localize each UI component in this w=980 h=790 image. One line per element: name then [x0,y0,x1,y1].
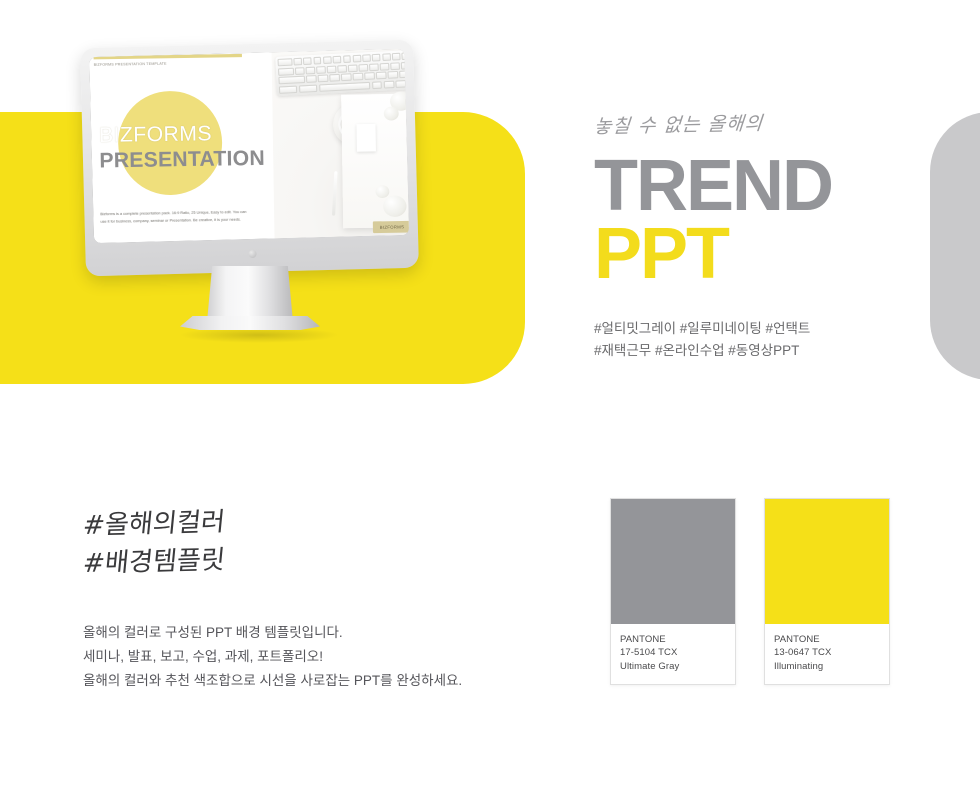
hero-script-line: 놓칠 수 없는 올해의 [593,104,956,139]
monitor-stand-foot [180,316,320,330]
monitor: BIZFORMS BIZFORMS PRESENTATION TEMPLATE … [80,40,419,277]
hashtag-line-1: #얼티밋그레이 #일루미네이팅 #언택트 [594,318,954,340]
pantone-name: Ultimate Gray [620,660,726,673]
monitor-mockup: BIZFORMS BIZFORMS PRESENTATION TEMPLATE … [83,44,428,344]
pantone-swatch [611,499,735,624]
slide-topline: BIZFORMS PRESENTATION TEMPLATE [94,61,167,66]
hero-hashtags: #얼티밋그레이 #일루미네이팅 #언택트 #재택근무 #온라인수업 #동영상PP… [594,318,954,362]
note-card [356,124,376,152]
monitor-bezel: BIZFORMS BIZFORMS PRESENTATION TEMPLATE … [89,49,409,243]
desk-photo-area: BIZFORMS [268,49,409,243]
pantone-name: Illuminating [774,660,880,673]
pantone-swatch [765,499,889,624]
slide-body-text: Bizforms is a complete presentation pack… [100,209,249,226]
hero-title-ppt: PPT [594,219,954,290]
copy-body-text: 올해의 컬러로 구성된 PPT 배경 템플릿입니다. 세미나, 발표, 보고, … [83,621,553,693]
pantone-brand: PANTONE [620,633,726,646]
pantone-info: PANTONE 13-0647 TCX Illuminating [765,624,889,684]
monitor-logo-dot [248,250,256,258]
copy-body-line-2: 세미나, 발표, 보고, 수업, 과제, 포트폴리오! [83,645,553,669]
pantone-code: 13-0647 TCX [774,646,880,659]
pantone-card: PANTONE 17-5104 TCX Ultimate Gray [610,498,736,685]
copy-body-line-1: 올해의 컬러로 구성된 PPT 배경 템플릿입니다. [83,621,553,645]
pantone-code: 17-5104 TCX [620,646,726,659]
hero-title-trend: TREND [594,153,954,219]
slide-text-panel: BIZFORMS PRESENTATION TEMPLATE BIZFORMS … [89,49,274,243]
pantone-brand: PANTONE [774,633,880,646]
pantone-card: PANTONE 13-0647 TCX Illuminating [764,498,890,685]
monitor-stand-neck [207,266,293,322]
keyboard-icon [275,50,409,96]
pen-icon [332,171,338,216]
monitor-screen: BIZFORMS BIZFORMS PRESENTATION TEMPLATE … [89,49,409,243]
slide-title-secondary: PRESENTATION [99,147,265,174]
pantone-info: PANTONE 17-5104 TCX Ultimate Gray [611,624,735,684]
slide-badge: BIZFORMS [373,221,409,233]
hero-heading-block: 놓칠 수 없는 올해의 TREND PPT #얼티밋그레이 #일루미네이팅 #언… [594,112,954,362]
copy-body-line-3: 올해의 컬러와 추천 색조합으로 시선을 사로잡는 PPT를 완성하세요. [83,669,553,693]
hashtag-line-2: #재택근무 #온라인수업 #동영상PPT [594,340,954,362]
poster-canvas: BIZFORMS BIZFORMS PRESENTATION TEMPLATE … [0,0,980,790]
description-block: #올해의컬러 #배경템플릿 올해의 컬러로 구성된 PPT 배경 템플릿입니다.… [83,508,553,693]
slide-title-primary: BIZFORMS [99,122,212,148]
pantone-card-row: PANTONE 17-5104 TCX Ultimate Gray PANTON… [610,498,890,685]
